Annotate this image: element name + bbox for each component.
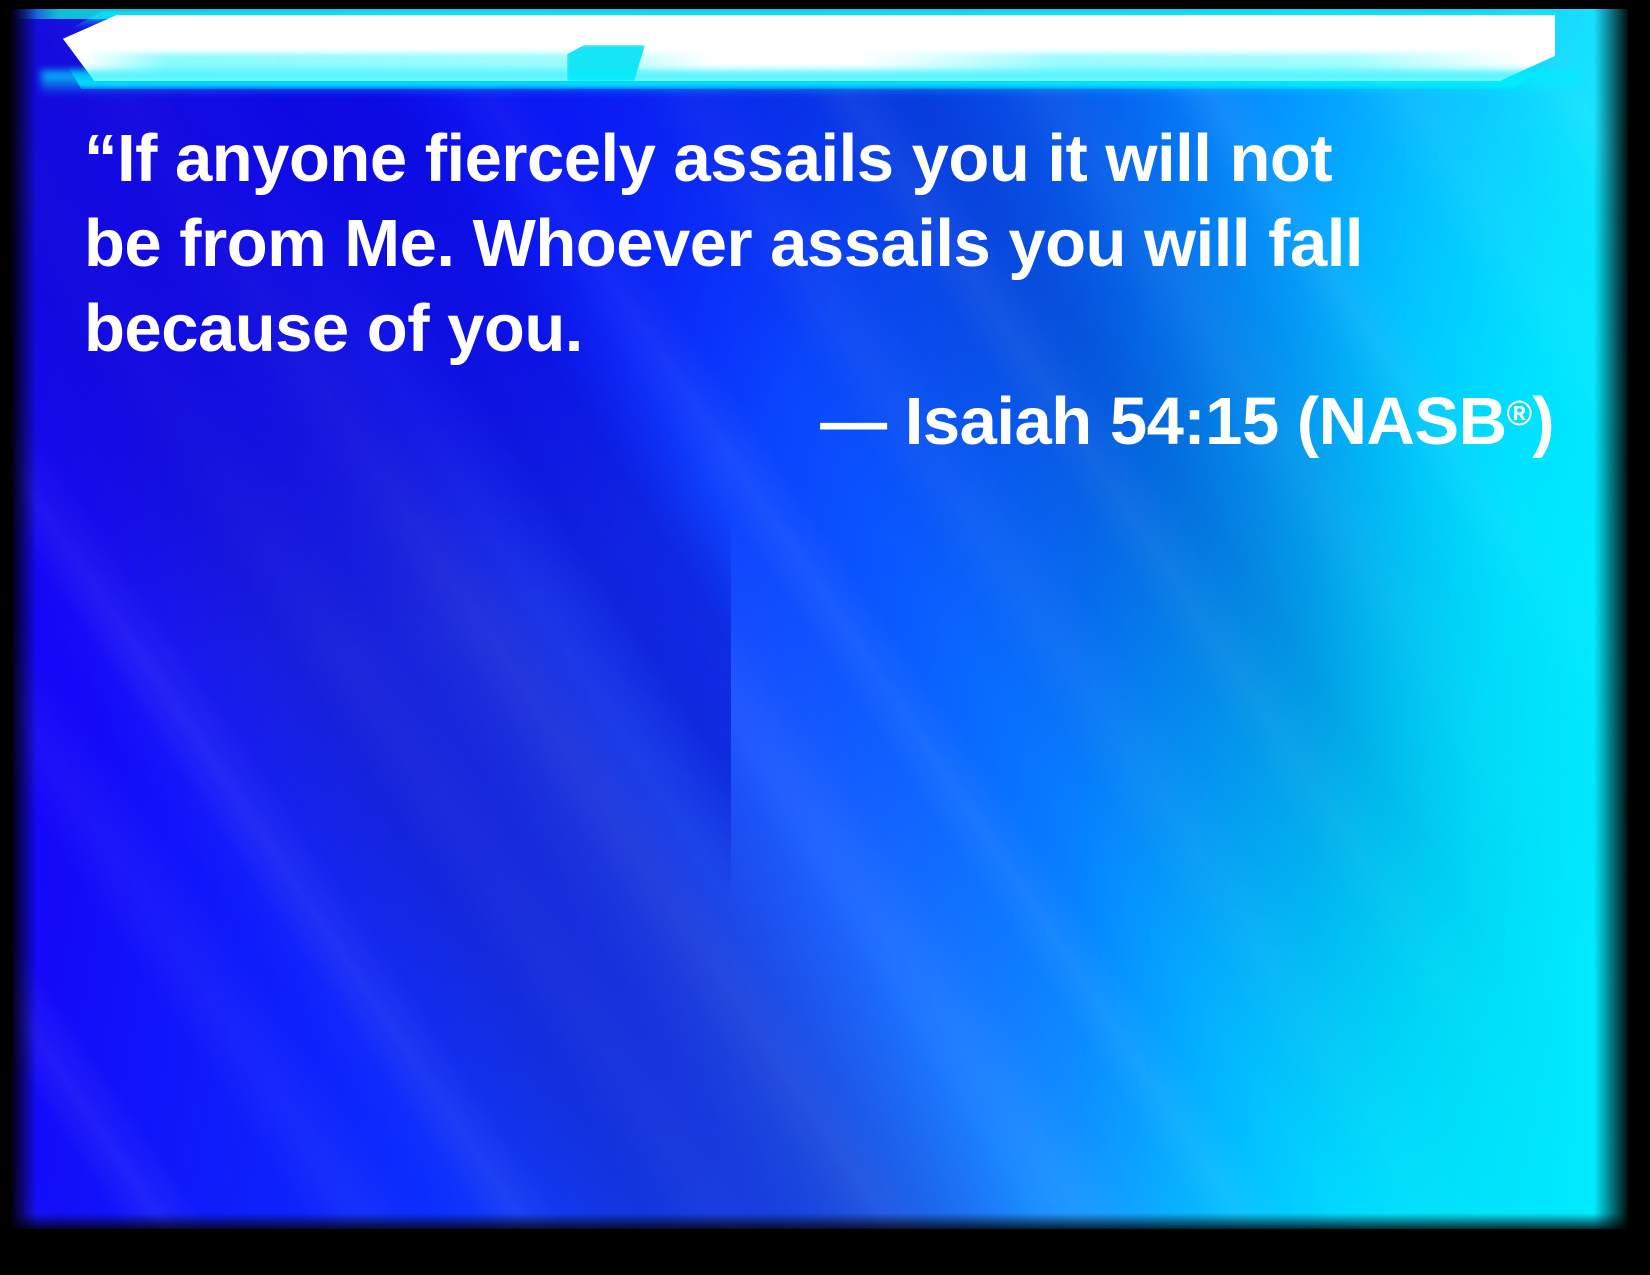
citation-open-paren: ( bbox=[1297, 384, 1319, 459]
citation-translation: NASB bbox=[1319, 384, 1507, 459]
citation-reference: 54:15 bbox=[1110, 384, 1279, 459]
citation-book: Isaiah bbox=[905, 384, 1092, 459]
frame-border-right bbox=[1628, 0, 1650, 1275]
citation-trademark-icon: ® bbox=[1507, 394, 1533, 433]
citation-dash: — bbox=[820, 384, 887, 459]
frame-border-bottom bbox=[0, 1229, 1650, 1275]
verse-text-block: “If anyone fiercely assails you it will … bbox=[84, 116, 1524, 371]
frame-border-top bbox=[0, 0, 1650, 9]
verse-citation: — Isaiah 54:15 (NASB®) bbox=[84, 371, 1554, 464]
verse-line-1: “If anyone fiercely assails you it will … bbox=[84, 116, 1524, 201]
citation-close-paren: ) bbox=[1532, 384, 1554, 459]
frame-border-left bbox=[0, 0, 11, 1275]
verse-line-2: be from Me. Whoever assails you will fal… bbox=[84, 201, 1524, 286]
scripture-slide: “If anyone fiercely assails you it will … bbox=[0, 0, 1650, 1275]
verse-line-3: because of you. bbox=[84, 286, 1524, 371]
